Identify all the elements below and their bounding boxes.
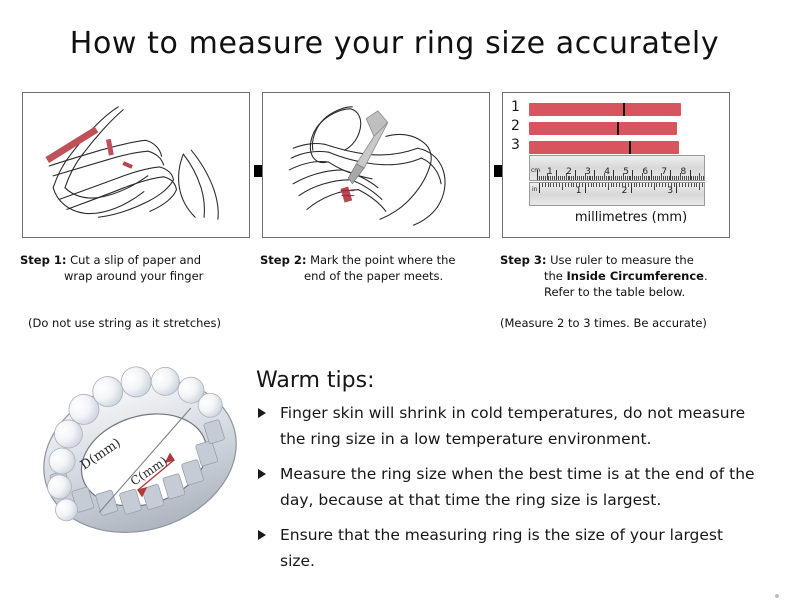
ruler-tick [556,170,557,180]
ruler-tick [619,183,620,187]
ruler-tick [599,183,600,187]
ruler-tick [613,183,614,187]
ruler-tick [550,183,551,187]
ruler-tick [699,183,700,190]
ruler-tick [672,176,673,180]
ruler-tick [621,176,622,180]
ruler-tick [579,176,580,180]
ruler-tick [554,176,555,180]
ruler-tick [651,183,652,187]
ruler-tick [588,183,589,187]
ruler-tick [697,176,698,180]
ruler-tick [559,183,560,187]
step-1-line-1: Cut a slip of paper and [70,253,201,267]
ruler-tick [674,176,675,180]
ruler-cm-label: 2 [566,167,572,177]
ruler-tick [628,183,629,187]
ruler-tick [605,183,606,187]
paper-strip-bar-1 [529,103,681,116]
bar-number-1: 1 [511,100,520,114]
ruler-tick [591,183,592,187]
hand-marking-paper-drawing [263,93,489,237]
step-1-caption: Step 1: Cut a slip of paper and wrap aro… [20,252,256,284]
step-2-illustration-panel [262,92,490,238]
bar-number-3: 3 [511,138,520,152]
ruler-tick [619,176,620,180]
ruler-tick [573,183,574,187]
ruler-tick [575,170,576,180]
ruler-tick [562,176,563,180]
ruler-tick [693,176,694,180]
paper-strip-bar-3 [529,141,679,154]
list-item: Ensure that the measuring ring is the si… [256,522,756,574]
ruler-tick [616,183,617,187]
list-item: Measure the ring size when the best time… [256,461,756,513]
step-3-line-1: Use ruler to measure the [550,253,694,267]
step-3-line-2-post: . [704,269,708,283]
ruler-tick [676,176,677,180]
ruler-tick [653,176,654,180]
step-1-illustration-panel [22,92,250,238]
ruler-tick [583,176,584,180]
step-3-caption: Step 3: Use ruler to measure the the Ins… [500,252,750,300]
ruler-tick [702,183,703,187]
ruler-tick [682,183,683,187]
ruler-tick [678,176,679,180]
tip-text: Finger skin will shrink in cold temperat… [280,404,745,448]
warm-tips-list: Finger skin will shrink in cold temperat… [256,400,756,583]
ruler-tick [691,176,692,180]
ruler-tick [651,170,652,180]
ruler-tick [699,173,700,180]
tip-text: Measure the ring size when the best time… [280,465,755,509]
ruler-tick [598,176,599,180]
ruler-tick [662,183,663,187]
ruler-tick [611,183,612,187]
mark-tick-1 [623,103,625,116]
ruler-cm-label: 7 [661,167,667,177]
ruler-tick [685,183,686,187]
ruler-tick [556,183,557,187]
bar-number-2: 2 [511,119,520,133]
ruler-unit-caption: millimetres (mm) [503,210,729,225]
ruler-tick [634,176,635,180]
page-title: How to measure your ring size accurately [0,26,789,61]
ruler-tick [577,176,578,180]
ruler-cm-unit-mark: cm [531,167,540,174]
ruler-tick [582,183,583,187]
step-3-emphasis: Inside Circumference [567,269,704,283]
step-1-line-2: wrap around your finger [20,268,256,284]
step-2-caption: Step 2: Mark the point where the end of … [260,252,496,284]
ruler-tick [541,176,542,180]
step-3-label: Step 3: [500,253,546,267]
ruler-cm-label: 8 [680,167,686,177]
mark-tick-3 [629,141,631,154]
ruler-tick [656,183,657,187]
ruler-tick [630,176,631,180]
ruler-tick [669,176,670,180]
ruler-tick [611,176,612,180]
ruler-tick [670,170,671,180]
corner-dot [775,594,779,598]
ruler-tick [659,176,660,180]
step-1-label: Step 1: [20,253,66,267]
ruler-tick [649,176,650,180]
ruler-tick [543,176,544,180]
ruler-tick [691,183,692,187]
ruler-tick [600,176,601,180]
ruler-tick [654,183,655,190]
ruler-inch-label: 1 [576,186,582,196]
ruler-tick [596,183,597,187]
ruler-tick [688,176,689,180]
paper-strip-bar-2 [529,122,677,135]
ruler-tick [560,176,561,180]
ruler-tick [585,183,586,193]
ruler-tick [634,183,635,187]
step-2-line-1: Mark the point where the [310,253,455,267]
ruler-cm-label: 5 [623,167,629,177]
ruler-tick [617,176,618,180]
ruler-tick [613,170,614,180]
step-3-line-2-pre: the [544,269,567,283]
ruler-tick [659,183,660,187]
ruler-cm-label: 1 [547,167,553,177]
ruler-tick [565,183,566,187]
ruler-tick [676,183,677,193]
ruler-tick [571,183,572,187]
ruler-tick [602,183,603,187]
bullet-triangle-icon [258,530,266,540]
step-3-line-2: the Inside Circumference. [500,268,750,284]
ruler-inch-scale: 123in [529,182,705,206]
ruler-tick [690,170,691,180]
ruler-tick [674,183,675,187]
mark-tick-2 [617,122,619,135]
warm-tips-heading: Warm tips: [256,368,375,393]
ruler-tick [655,176,656,180]
step-3-line-3: Refer to the table below. [500,284,750,300]
ruler-tick [657,176,658,180]
ruler-tick [694,183,695,187]
ring-photo-illustration: D(mm) C(mm) [34,352,246,548]
ruler-tick [639,183,640,187]
ruler-tick [558,176,559,180]
ruler-tick [636,176,637,180]
ruler-tick [548,183,549,187]
bullet-triangle-icon [258,469,266,479]
ruler-tick [696,183,697,187]
ruler-tick [632,170,633,180]
step-1-note: (Do not use string as it stretches) [28,315,221,331]
ruler-tick [695,176,696,180]
ruler-tick [608,183,609,190]
ruler-tick [703,176,704,180]
ruler-cm-label: 6 [642,167,648,177]
ruler-tick [602,176,603,180]
ruler-tick [638,176,639,180]
ruler-tick [562,183,563,190]
ruler-tick [596,176,597,180]
ruler-cm-label: 4 [604,167,610,177]
ruler-inch-label: 2 [622,186,628,196]
ruler-tick [568,183,569,187]
ruler-tick [688,183,689,187]
ruler-cm-label: 3 [585,167,591,177]
ruler-inch-unit-mark: in [532,186,537,193]
ring-diagram: D(mm) C(mm) [34,352,246,548]
step-3-measure-panel: 1 2 3 12345678cm 123in millimetres (mm) [502,92,730,238]
ruler-tick [642,183,643,187]
ruler-tick [665,183,666,187]
ruler-tick [553,183,554,187]
ruler-tick [636,183,637,187]
ruler-tick [631,183,632,193]
ruler-tick [593,183,594,187]
ruler-tick [581,176,582,180]
ruler-tick [648,183,649,187]
ruler-tick [564,176,565,180]
ruler-tick [539,176,540,180]
step-3-note: (Measure 2 to 3 times. Be accurate) [500,315,707,331]
ruler-tick [545,176,546,180]
step-2-label: Step 2: [260,253,306,267]
bullet-triangle-icon [258,408,266,418]
ruler-tick [594,170,595,180]
ruler-centimetre-scale: 12345678cm [529,155,705,181]
ruler-tick [539,183,540,193]
ruler-tick [545,183,546,187]
hand-with-paper-strip-drawing [23,93,249,237]
ruler-tick [679,183,680,187]
ruler-inch-label: 3 [667,186,673,196]
step-2-line-2: end of the paper meets. [260,268,496,284]
ruler-tick [573,176,574,180]
ruler-tick [645,183,646,187]
tip-text: Ensure that the measuring ring is the si… [280,526,723,570]
ruler-tick [542,183,543,187]
ruler-tick [640,176,641,180]
list-item: Finger skin will shrink in cold temperat… [256,400,756,452]
ruler-tick [615,176,616,180]
ruler-tick [701,176,702,180]
ruler-tick [592,176,593,180]
